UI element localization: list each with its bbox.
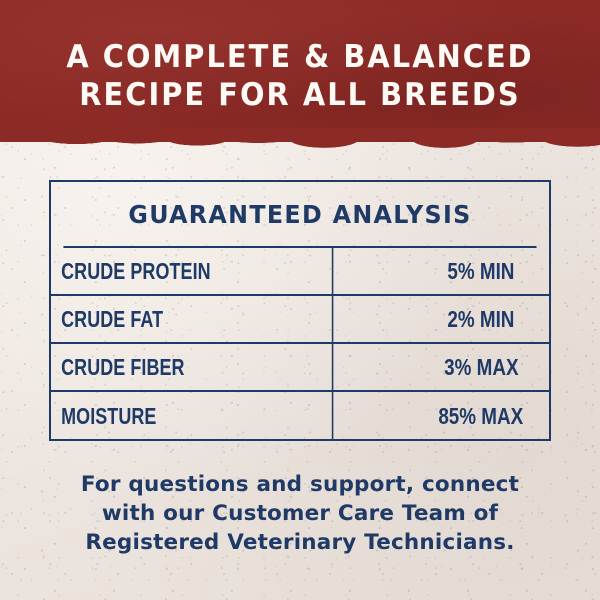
support-message-line-2: with our Customer Care Team of	[36, 499, 564, 528]
product-label-panel: A COMPLETE & BALANCED RECIPE FOR ALL BRE…	[0, 0, 600, 600]
headline-banner: A COMPLETE & BALANCED RECIPE FOR ALL BRE…	[0, 0, 600, 148]
nutrient-label: MOISTURE	[51, 392, 333, 440]
nutrient-amount: 2% MIN	[413, 296, 549, 342]
support-message-line-1: For questions and support, connect	[36, 470, 564, 499]
nutrient-amount: 3% MAX	[413, 344, 549, 390]
headline-line-1: A COMPLETE & BALANCED	[21, 38, 579, 76]
nutrient-label: CRUDE PROTEIN	[51, 248, 333, 294]
torn-paper-edge	[0, 128, 600, 148]
guaranteed-analysis-title: GUARANTEED ANALYSIS	[63, 182, 536, 248]
table-row: CRUDE FAT 2% MIN	[51, 296, 549, 344]
nutrient-amount: 85% MAX	[413, 392, 549, 440]
headline-text: A COMPLETE & BALANCED RECIPE FOR ALL BRE…	[21, 38, 579, 114]
support-message-line-3: Registered Veterinary Technicians.	[36, 528, 564, 557]
headline-line-2: RECIPE FOR ALL BREEDS	[21, 76, 579, 114]
table-row: MOISTURE 85% MAX	[51, 392, 549, 440]
table-row: CRUDE PROTEIN 5% MIN	[51, 248, 549, 296]
support-message: For questions and support, connect with …	[36, 470, 564, 557]
nutrient-label: CRUDE FAT	[51, 296, 333, 342]
nutrient-label: CRUDE FIBER	[51, 344, 333, 390]
guaranteed-analysis-table: GUARANTEED ANALYSIS CRUDE PROTEIN 5% MIN…	[49, 180, 551, 441]
nutrient-amount: 5% MIN	[413, 248, 549, 294]
table-row: CRUDE FIBER 3% MAX	[51, 344, 549, 392]
